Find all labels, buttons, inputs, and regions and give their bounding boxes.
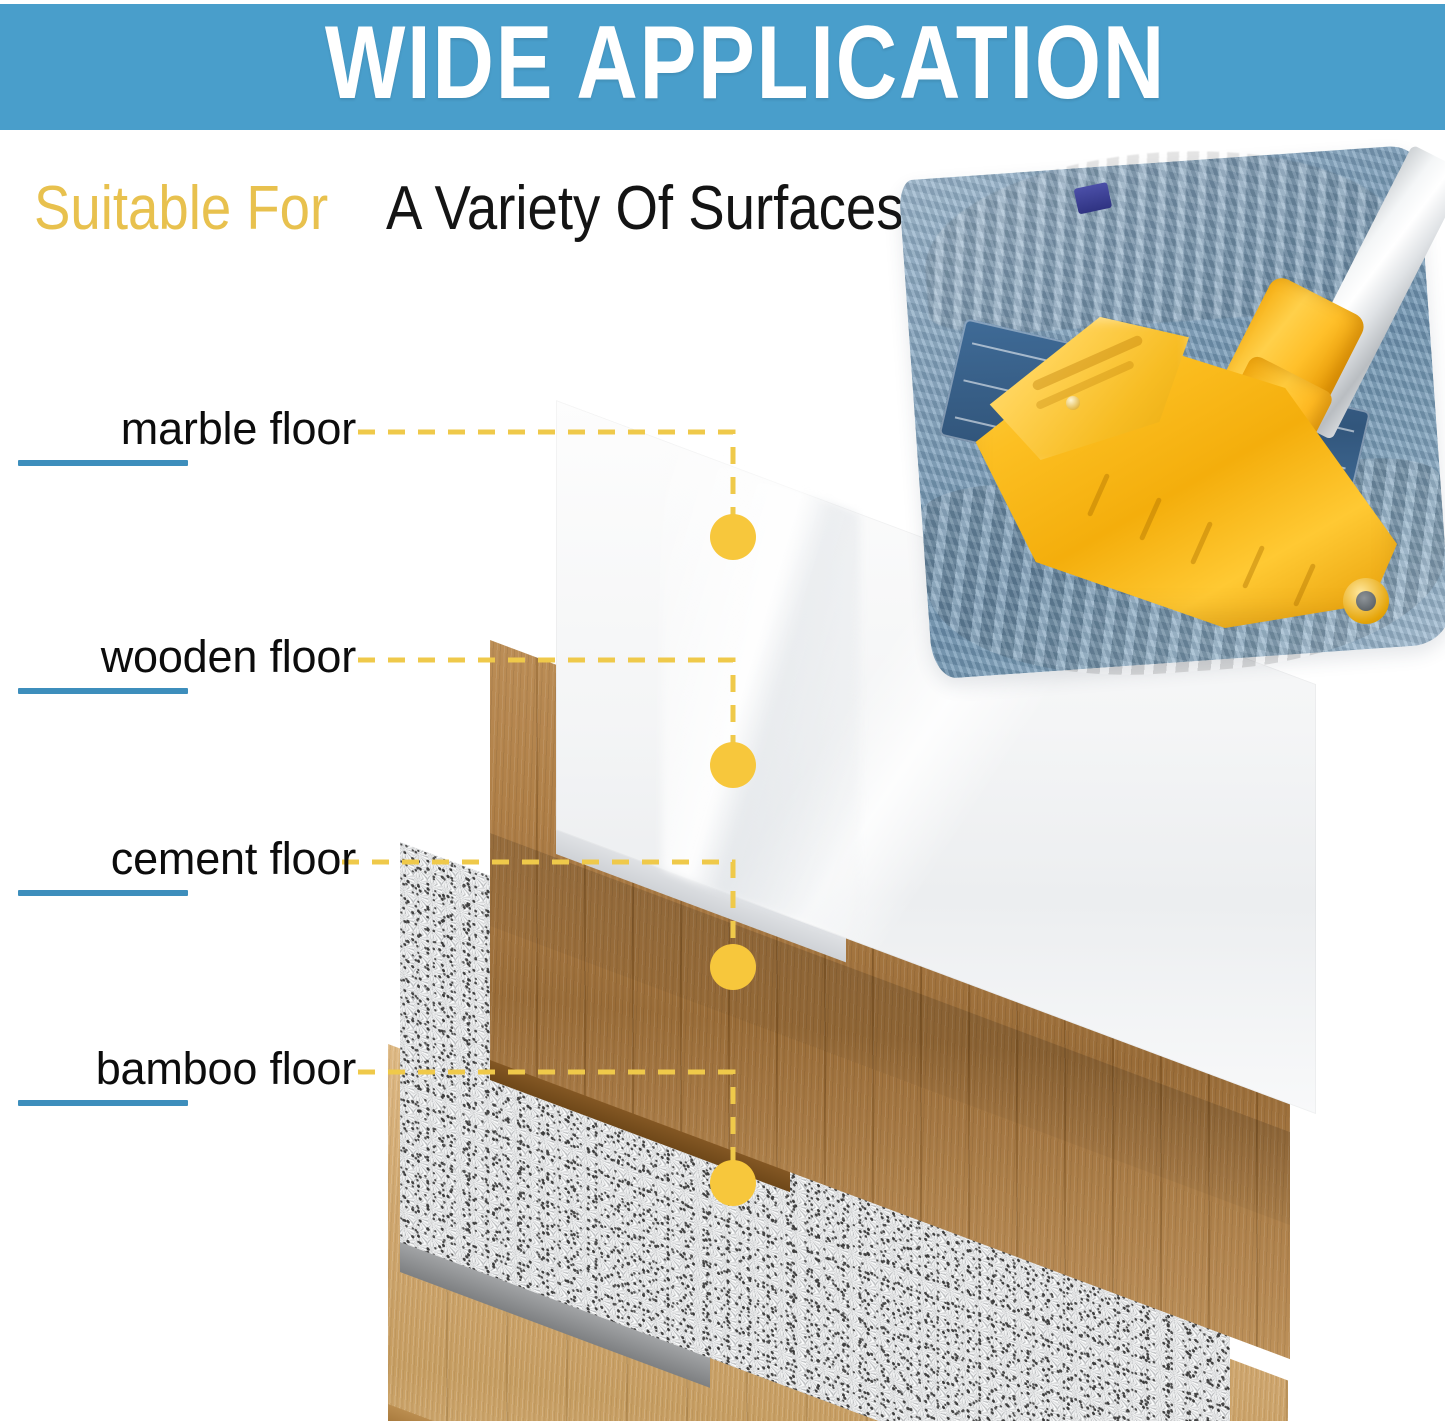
callout-label-marble-text: marble floor	[0, 402, 356, 456]
marker-dot-bamboo	[710, 1160, 756, 1206]
callout-label-cement: cement floor	[0, 832, 400, 898]
callout-rule-bamboo	[18, 1100, 188, 1106]
callout-label-marble: marble floor	[0, 402, 400, 468]
callout-label-bamboo: bamboo floor	[0, 1042, 400, 1108]
callout-label-wooden: wooden floor	[0, 630, 400, 696]
callout-rule-marble	[18, 460, 188, 466]
infographic-canvas: WIDE APPLICATION Suitable For A Variety …	[0, 0, 1445, 1421]
callout-label-cement-text: cement floor	[0, 832, 356, 886]
connector-bamboo	[358, 1072, 733, 1161]
marker-dot-cement	[710, 944, 756, 990]
connector-cement	[342, 862, 733, 945]
marker-dot-marble	[710, 514, 756, 560]
callout-label-bamboo-text: bamboo floor	[0, 1042, 356, 1096]
callout-rule-wooden	[18, 688, 188, 694]
callout-connectors	[0, 0, 1445, 1421]
marker-dot-wooden	[710, 742, 756, 788]
connector-marble	[358, 432, 733, 515]
callout-rule-cement	[18, 890, 188, 896]
connector-wooden	[358, 660, 733, 743]
callout-label-wooden-text: wooden floor	[0, 630, 356, 684]
